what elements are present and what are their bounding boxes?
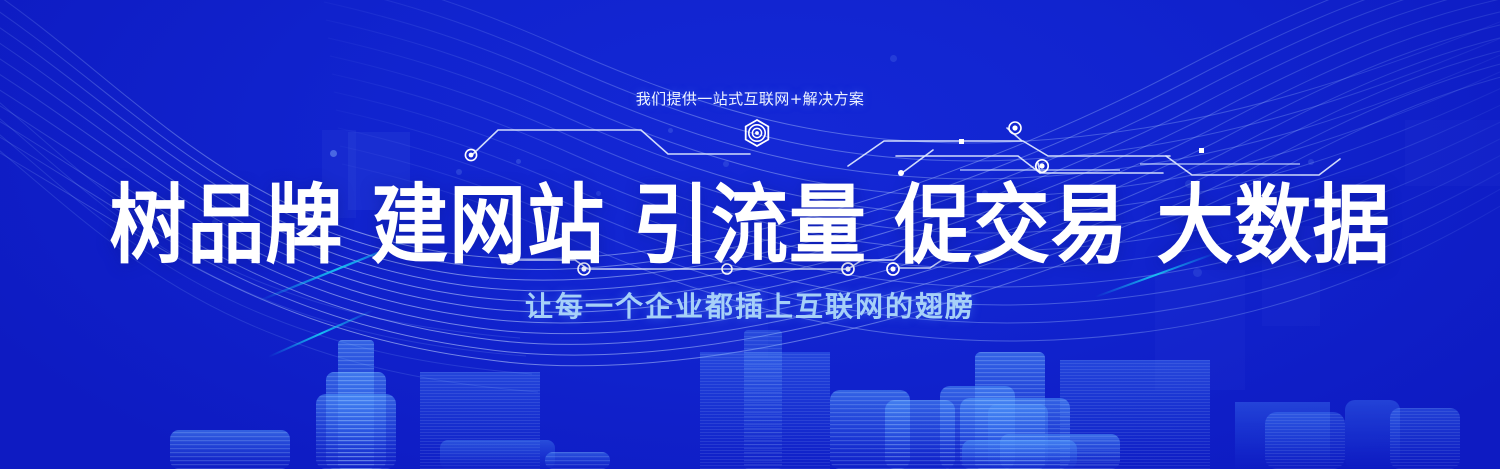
hero-banner: 我们提供一站式互联网+解决方案 树品牌 建网站 引流量 促交易 大数据 让每一个… — [0, 0, 1500, 469]
hero-tagline: 我们提供一站式互联网+解决方案 — [0, 88, 1500, 109]
glow-dot — [456, 169, 462, 175]
glow-dot — [723, 161, 729, 167]
hero-headline: 树品牌 建网站 引流量 促交易 大数据 — [0, 181, 1500, 273]
glow-dot — [330, 150, 337, 157]
glow-dot — [1308, 159, 1314, 165]
glow-dot — [516, 159, 521, 164]
glow-dot — [890, 55, 897, 62]
glow-dot — [668, 128, 673, 133]
hero-subheadline: 让每一个企业都插上互联网的翅膀 — [0, 290, 1500, 324]
